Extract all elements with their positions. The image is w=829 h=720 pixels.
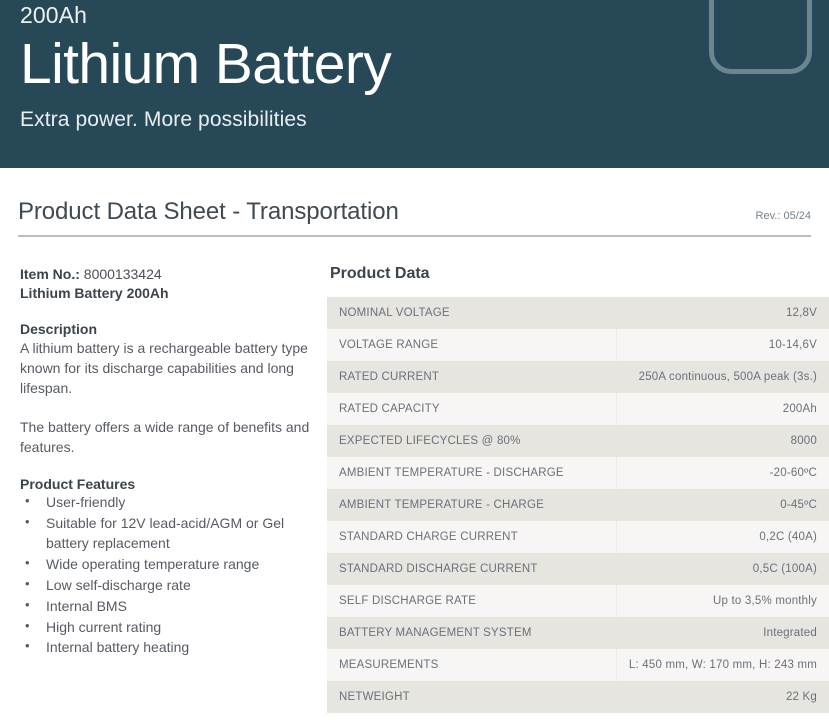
feature-item: User-friendly [20, 493, 322, 513]
table-row: NETWEIGHT22 Kg [327, 681, 829, 713]
description-heading: Description [20, 321, 322, 337]
item-number-value: 8000133424 [84, 266, 162, 282]
table-row: RATED CURRENT250A continuous, 500A peak … [327, 361, 829, 393]
description-paragraph-1: A lithium battery is a rechargeable batt… [20, 338, 322, 398]
features-block: Product Features User-friendlySuitable f… [20, 476, 322, 658]
title-divider [18, 235, 811, 237]
table-row: AMBIENT TEMPERATURE - DISCHARGE-20-60ºC [327, 457, 829, 489]
spec-value: 8000 [616, 425, 829, 457]
description-paragraph-2: The battery offers a wide range of benef… [20, 417, 322, 457]
revision-label: Rev.: 05/24 [756, 210, 811, 222]
feature-item: Internal battery heating [20, 638, 322, 658]
spec-key: RATED CAPACITY [327, 393, 616, 425]
hero-tagline: Extra power. More possibilities [20, 109, 680, 130]
spec-value: 250A continuous, 500A peak (3s.) [616, 361, 829, 393]
sheet-header: Product Data Sheet - Transportation Rev.… [18, 168, 811, 237]
feature-item: Suitable for 12V lead-acid/AGM or Gel ba… [20, 514, 322, 554]
spec-key: MEASUREMENTS [327, 649, 616, 681]
description-block-2: The battery offers a wide range of benef… [20, 417, 322, 457]
hero-banner: 200Ah Lithium Battery Extra power. More … [0, 0, 829, 168]
spec-value: 22 Kg [616, 681, 829, 713]
table-row: STANDARD CHARGE CURRENT0,2C (40A) [327, 521, 829, 553]
spec-key: NOMINAL VOLTAGE [327, 297, 616, 329]
hero-capacity-kicker: 200Ah [20, 4, 680, 27]
table-row: RATED CAPACITY200Ah [327, 393, 829, 425]
spec-value: Integrated [616, 617, 829, 649]
hero-text-group: 200Ah Lithium Battery Extra power. More … [20, 0, 680, 130]
spec-key: STANDARD DISCHARGE CURRENT [327, 553, 616, 585]
spec-value: 0,2C (40A) [616, 521, 829, 553]
spec-key: SELF DISCHARGE RATE [327, 585, 616, 617]
spec-key: EXPECTED LIFECYCLES @ 80% [327, 425, 616, 457]
table-row: VOLTAGE RANGE10-14,6V [327, 329, 829, 361]
item-name-line: Lithium Battery 200Ah [20, 284, 322, 303]
spec-value: 0-45ºC [616, 489, 829, 521]
content-columns: Item No.: 8000133424 Lithium Battery 200… [0, 265, 829, 713]
table-row: STANDARD DISCHARGE CURRENT0,5C (100A) [327, 553, 829, 585]
spec-value: 200Ah [616, 393, 829, 425]
spec-key: VOLTAGE RANGE [327, 329, 616, 361]
spec-value: 12,8V [616, 297, 829, 329]
item-number-label: Item No.: [20, 266, 80, 282]
spec-key: AMBIENT TEMPERATURE - CHARGE [327, 489, 616, 521]
product-data-table: NOMINAL VOLTAGE12,8VVOLTAGE RANGE10-14,6… [327, 297, 829, 713]
battery-outline-icon [709, 0, 812, 74]
feature-item: Low self-discharge rate [20, 576, 322, 596]
table-row: BATTERY MANAGEMENT SYSTEMIntegrated [327, 617, 829, 649]
feature-item: Wide operating temperature range [20, 555, 322, 575]
spec-key: BATTERY MANAGEMENT SYSTEM [327, 617, 616, 649]
spec-value: -20-60ºC [616, 457, 829, 489]
features-heading: Product Features [20, 476, 322, 492]
table-row: EXPECTED LIFECYCLES @ 80%8000 [327, 425, 829, 457]
spec-key: STANDARD CHARGE CURRENT [327, 521, 616, 553]
spec-value: 0,5C (100A) [616, 553, 829, 585]
feature-item: High current rating [20, 618, 322, 638]
item-number-line: Item No.: 8000133424 [20, 265, 322, 284]
left-column: Item No.: 8000133424 Lithium Battery 200… [0, 265, 322, 658]
item-name-value: Lithium Battery 200Ah [20, 285, 169, 301]
spec-value: L: 450 mm, W: 170 mm, H: 243 mm [616, 649, 829, 681]
spec-key: AMBIENT TEMPERATURE - DISCHARGE [327, 457, 616, 489]
product-data-table-body: NOMINAL VOLTAGE12,8VVOLTAGE RANGE10-14,6… [327, 297, 829, 713]
spec-key: RATED CURRENT [327, 361, 616, 393]
table-row: AMBIENT TEMPERATURE - CHARGE0-45ºC [327, 489, 829, 521]
page-title: Product Data Sheet - Transportation [18, 198, 399, 226]
table-row: SELF DISCHARGE RATEUp to 3,5% monthly [327, 585, 829, 617]
features-list: User-friendlySuitable for 12V lead-acid/… [20, 493, 322, 658]
spec-value: 10-14,6V [616, 329, 829, 361]
table-row: MEASUREMENTSL: 450 mm, W: 170 mm, H: 243… [327, 649, 829, 681]
product-data-heading: Product Data [330, 265, 829, 283]
right-column: Product Data NOMINAL VOLTAGE12,8VVOLTAGE… [322, 265, 829, 713]
description-block: Description A lithium battery is a recha… [20, 321, 322, 398]
spec-key: NETWEIGHT [327, 681, 616, 713]
spec-value: Up to 3,5% monthly [616, 585, 829, 617]
table-row: NOMINAL VOLTAGE12,8V [327, 297, 829, 329]
sheet-header-row: Product Data Sheet - Transportation Rev.… [18, 198, 811, 226]
hero-product-title: Lithium Battery [20, 35, 680, 93]
feature-item: Internal BMS [20, 597, 322, 617]
